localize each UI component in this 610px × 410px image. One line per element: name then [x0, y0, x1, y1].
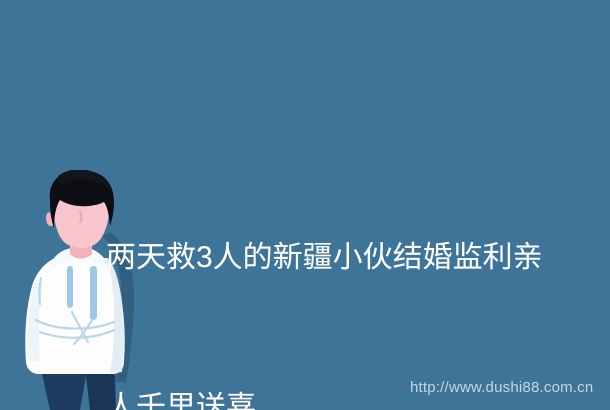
- drawstring-left: [67, 266, 73, 308]
- headline-line-1: 两天救3人的新疆小伙结婚监利亲: [106, 233, 576, 283]
- headline-title: 两天救3人的新疆小伙结婚监利亲 人千里送喜: [106, 133, 576, 410]
- news-thumbnail-card: 两天救3人的新疆小伙结婚监利亲 人千里送喜 http://www.dushi88…: [0, 0, 610, 410]
- source-watermark-url: http://www.dushi88.com.cn: [410, 379, 593, 397]
- drawstring-right: [90, 266, 97, 320]
